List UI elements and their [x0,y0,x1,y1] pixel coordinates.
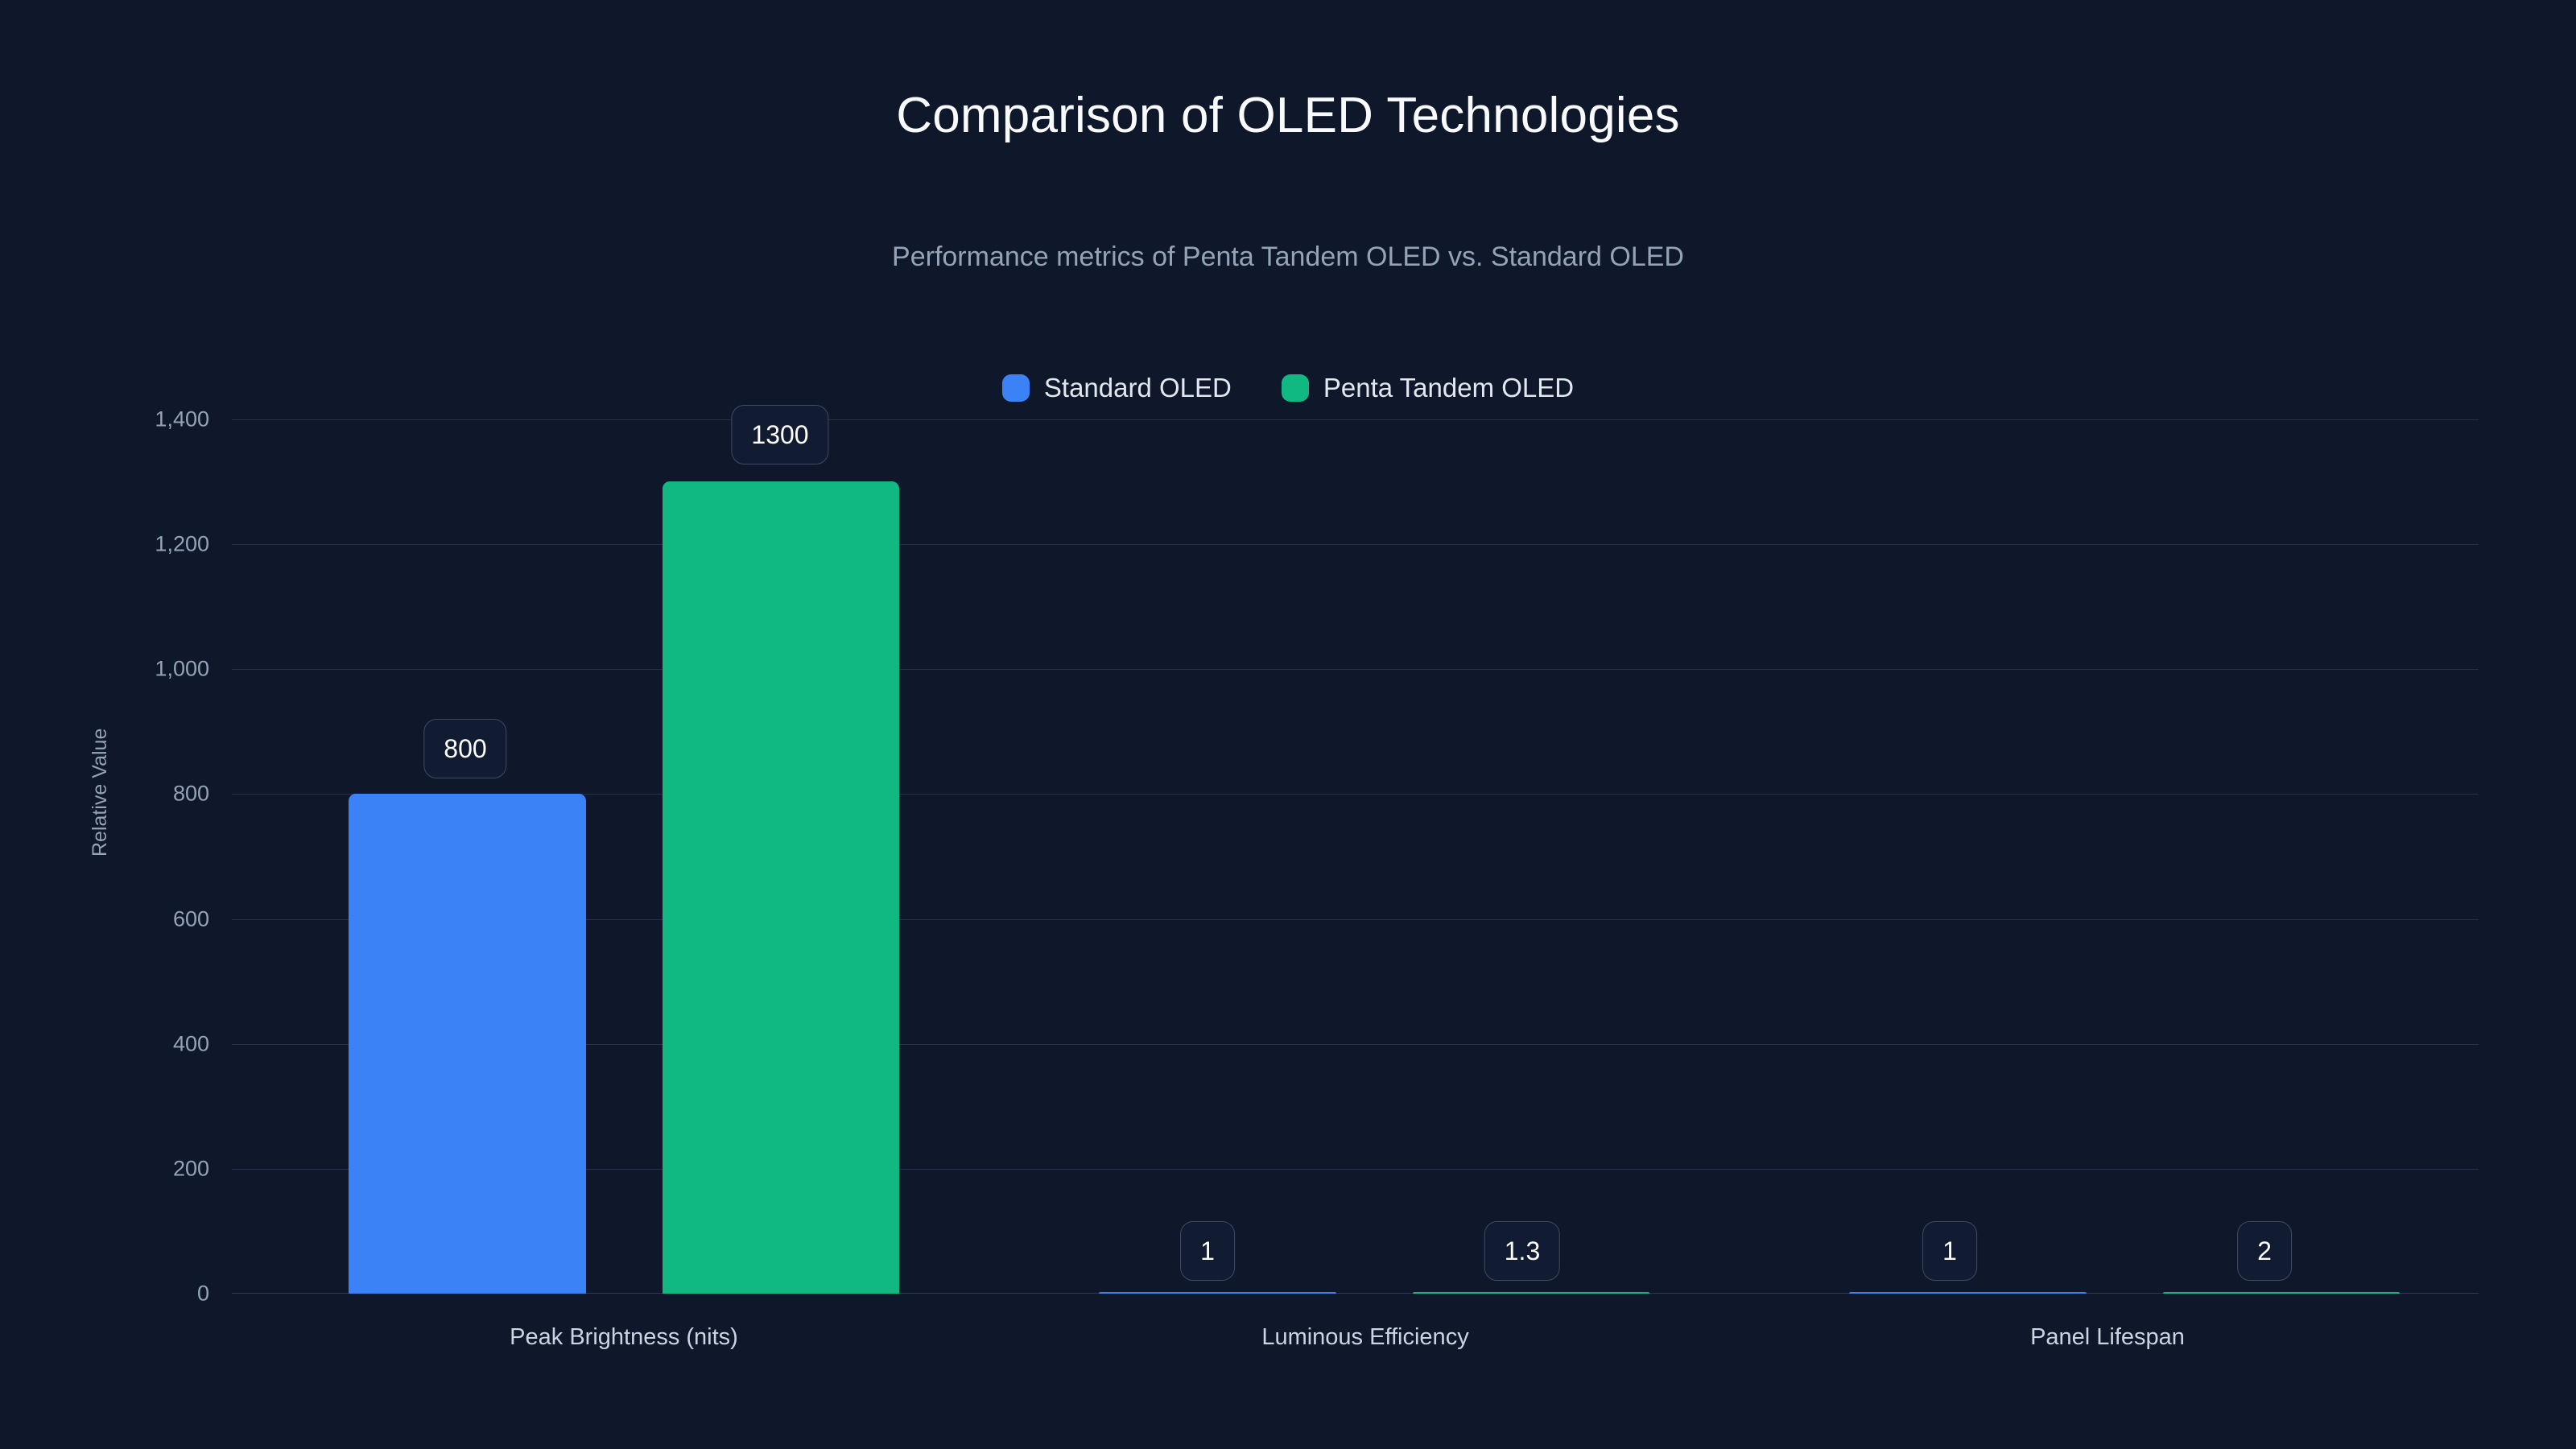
legend-swatch-icon [1282,374,1309,402]
chart-subtitle: Performance metrics of Penta Tandem OLED… [0,242,2576,273]
legend-item-standard-oled[interactable]: Standard OLED [1002,373,1232,403]
value-badge-standard-panel-lifespan: 1 [1922,1221,1977,1281]
bar-standard-panel-lifespan[interactable] [1849,1292,2087,1294]
plot-area [232,419,2479,1294]
gridline [232,419,2479,420]
legend-swatch-icon [1002,374,1030,402]
x-axis-label-luminous-efficiency: Luminous Efficiency [1261,1324,1468,1351]
value-badge-penta-panel-lifespan: 2 [2237,1221,2292,1281]
bar-penta-panel-lifespan[interactable] [2163,1292,2400,1294]
y-tick-label: 400 [56,1032,209,1057]
value-badge-standard-luminous-efficiency: 1 [1180,1221,1235,1281]
y-tick-label: 800 [56,782,209,807]
bar-standard-luminous-efficiency[interactable] [1099,1292,1336,1294]
legend-item-label: Standard OLED [1044,373,1232,403]
value-badge-penta-peak-brightness: 1300 [731,405,828,464]
legend-item-penta-tandem-oled[interactable]: Penta Tandem OLED [1282,373,1574,403]
y-tick-label: 200 [56,1157,209,1182]
y-tick-label: 0 [56,1282,209,1307]
bar-standard-peak-brightness[interactable] [349,794,586,1294]
x-axis-label-panel-lifespan: Panel Lifespan [2030,1324,2185,1351]
gridline [232,669,2479,670]
y-tick-label: 600 [56,907,209,932]
y-tick-label: 1,400 [56,407,209,432]
y-tick-label: 1,000 [56,657,209,682]
page-title: Comparison of OLED Technologies [0,87,2576,144]
chart-legend: Standard OLED Penta Tandem OLED [0,373,2576,403]
bar-penta-luminous-efficiency[interactable] [1413,1292,1649,1294]
legend-item-label: Penta Tandem OLED [1323,373,1574,403]
value-badge-standard-peak-brightness: 800 [423,719,506,778]
y-tick-label: 1,200 [56,532,209,557]
bar-penta-peak-brightness[interactable] [663,481,899,1294]
x-axis-label-peak-brightness: Peak Brightness (nits) [510,1324,738,1351]
gridline [232,544,2479,545]
value-badge-penta-luminous-efficiency: 1.3 [1484,1221,1560,1281]
chart-container: Comparison of OLED Technologies Performa… [0,0,2576,1449]
